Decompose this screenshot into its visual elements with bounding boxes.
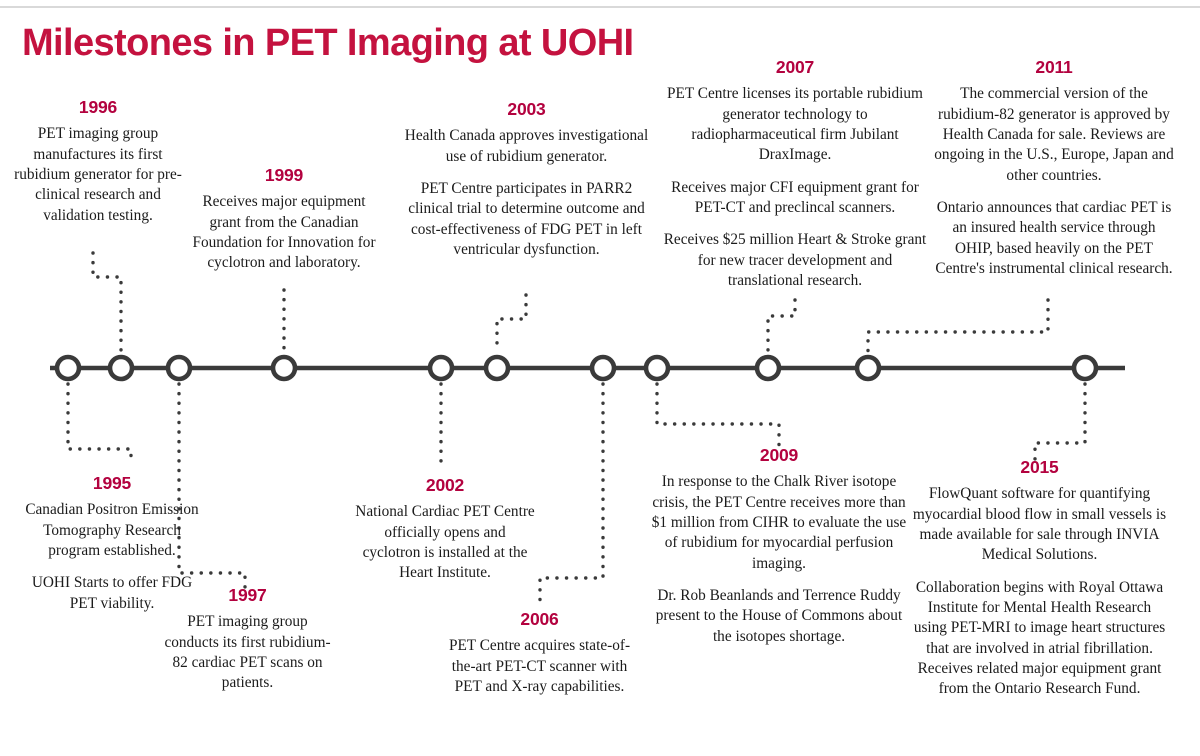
entry-paragraph: Canadian Positron Emission Tomography Re…: [22, 500, 202, 561]
entry-2011: 2011 The commercial version of the rubid…: [934, 58, 1174, 279]
timeline-node: [168, 357, 190, 379]
entry-paragraph: The commercial version of the rubidium-8…: [934, 84, 1174, 186]
entry-year: 1997: [160, 586, 335, 605]
timeline-node: [646, 357, 668, 379]
entry-1996: 1996 PET imaging group manufactures its …: [8, 98, 188, 226]
timeline-node: [273, 357, 295, 379]
entry-year: 2007: [662, 58, 928, 77]
entry-paragraph: PET imaging group conducts its first rub…: [160, 612, 335, 693]
entry-1999: 1999 Receives major equipment grant from…: [190, 166, 378, 274]
entry-year: 2009: [650, 446, 908, 465]
timeline-node: [486, 357, 508, 379]
entry-paragraph: FlowQuant software for quantifying myoca…: [912, 484, 1167, 565]
timeline-node: [592, 357, 614, 379]
entry-year: 2015: [912, 458, 1167, 477]
entry-2015: 2015 FlowQuant software for quantifying …: [912, 458, 1167, 700]
entry-paragraph: Receives major equipment grant from the …: [190, 192, 378, 273]
timeline-node: [757, 357, 779, 379]
timeline-infographic: Milestones in PET Imaging at UOHI: [0, 0, 1200, 756]
entry-year: 2003: [399, 100, 654, 119]
entry-paragraph: Collaboration begins with Royal Ottawa I…: [912, 578, 1167, 700]
entry-year: 2006: [442, 610, 637, 629]
timeline-node: [430, 357, 452, 379]
entry-2007: 2007 PET Centre licenses its portable ru…: [662, 58, 928, 291]
entry-year: 1999: [190, 166, 378, 185]
entry-paragraph: Receives major CFI equipment grant for P…: [662, 178, 928, 219]
entry-paragraph: PET Centre acquires state-of-the-art PET…: [442, 636, 637, 697]
entry-1997: 1997 PET imaging group conducts its firs…: [160, 586, 335, 694]
entry-paragraph: Ontario announces that cardiac PET is an…: [934, 198, 1174, 279]
timeline-node: [110, 357, 132, 379]
entry-year: 1995: [22, 474, 202, 493]
timeline-node: [857, 357, 879, 379]
entry-paragraph: In response to the Chalk River isotope c…: [650, 472, 908, 574]
entry-paragraph: PET imaging group manufactures its first…: [8, 124, 188, 226]
entry-year: 2011: [934, 58, 1174, 77]
entry-paragraph: Dr. Rob Beanlands and Terrence Ruddy pre…: [650, 586, 908, 647]
entry-2006: 2006 PET Centre acquires state-of-the-ar…: [442, 610, 637, 697]
entry-paragraph: Health Canada approves investigational u…: [399, 126, 654, 167]
entry-year: 1996: [8, 98, 188, 117]
entry-paragraph: PET Centre licenses its portable rubidiu…: [662, 84, 928, 165]
entry-year: 2002: [355, 476, 535, 495]
entry-paragraph: National Cardiac PET Centre officially o…: [355, 502, 535, 583]
timeline-node: [1074, 357, 1096, 379]
entry-2002: 2002 National Cardiac PET Centre officia…: [355, 476, 535, 584]
entry-2009: 2009 In response to the Chalk River isot…: [650, 446, 908, 647]
entry-paragraph: Receives $25 million Heart & Stroke gran…: [662, 230, 928, 291]
entry-paragraph: PET Centre participates in PARR2 clinica…: [399, 179, 654, 260]
entry-2003: 2003 Health Canada approves investigatio…: [399, 100, 654, 260]
timeline-node: [57, 357, 79, 379]
